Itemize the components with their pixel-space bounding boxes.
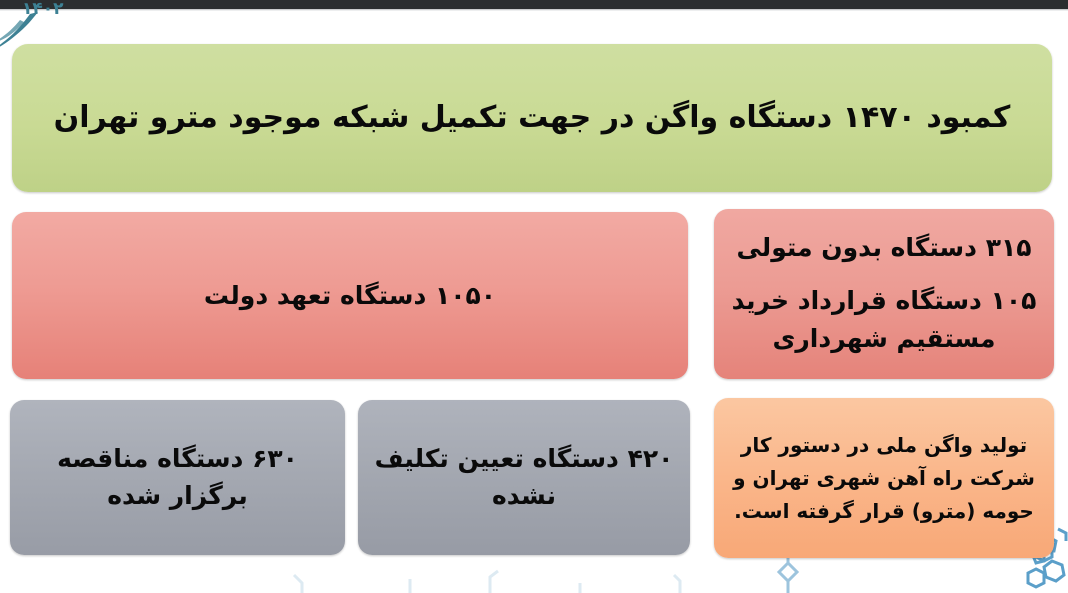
unowned-card-body: ۳۱۵ دستگاه بدون متولی ۱۰۵ دستگاه قرارداد… bbox=[728, 229, 1040, 359]
unowned-line-1: ۳۱۵ دستگاه بدون متولی bbox=[728, 229, 1040, 268]
top-bar-edge-highlight bbox=[0, 9, 1068, 11]
top-bar bbox=[0, 0, 1068, 9]
title-banner: کمبود ۱۴۷۰ دستگاه واگن در جهت تکمیل شبکه… bbox=[12, 44, 1052, 192]
tender-held-text: ۶۳۰ دستگاه مناقصه برگزار شده bbox=[24, 441, 331, 514]
unowned-wagons-card: ۳۱۵ دستگاه بدون متولی ۱۰۵ دستگاه قرارداد… bbox=[714, 209, 1054, 379]
tender-held-card: ۶۳۰ دستگاه مناقصه برگزار شده bbox=[10, 400, 345, 555]
government-commitment-card: ۱۰۵۰ دستگاه تعهد دولت bbox=[12, 212, 688, 379]
title-text: کمبود ۱۴۷۰ دستگاه واگن در جهت تکمیل شبکه… bbox=[26, 98, 1038, 139]
unowned-line-2: ۱۰۵ دستگاه قرارداد خرید مستقیم شهرداری bbox=[728, 282, 1040, 360]
year-label: ۱۴۰۲ bbox=[22, 1, 64, 18]
national-production-card: تولید واگن ملی در دستور کار شرکت راه آهن… bbox=[714, 398, 1054, 558]
undetermined-status-text: ۴۲۰ دستگاه تعیین تکلیف نشده bbox=[372, 441, 676, 514]
national-production-text: تولید واگن ملی در دستور کار شرکت راه آهن… bbox=[728, 429, 1040, 528]
undetermined-status-card: ۴۲۰ دستگاه تعیین تکلیف نشده bbox=[358, 400, 690, 555]
government-commitment-text: ۱۰۵۰ دستگاه تعهد دولت bbox=[26, 278, 674, 313]
geometric-pattern-left-icon bbox=[250, 563, 710, 593]
